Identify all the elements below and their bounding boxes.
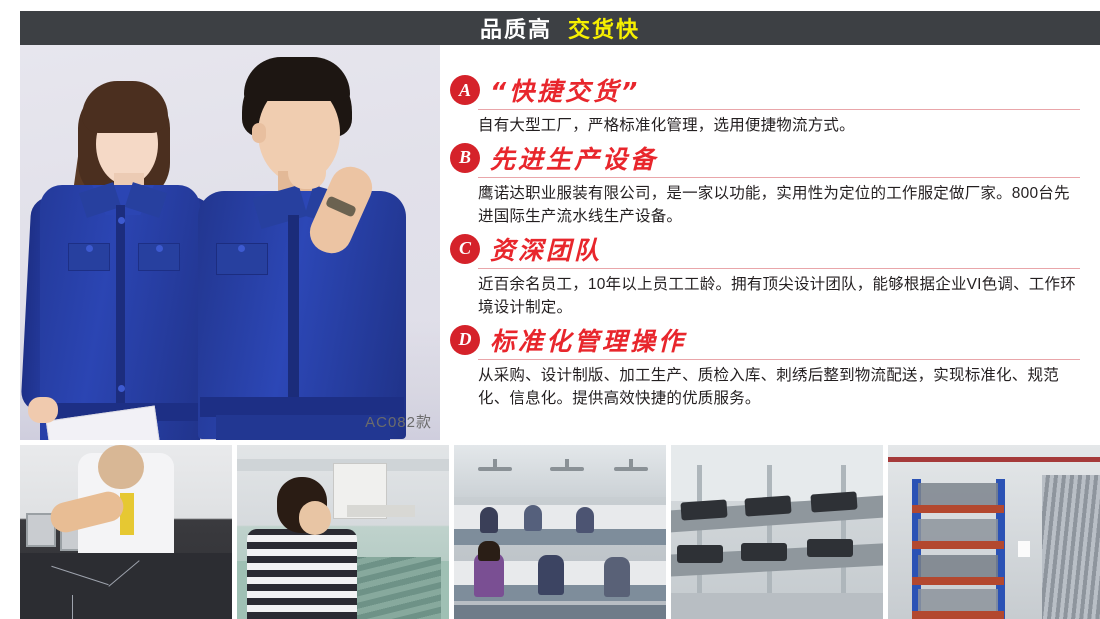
- garment-on-belt: [810, 491, 857, 512]
- feature-b-title: 先进生产设备: [490, 140, 658, 176]
- gallery-photo-conveyor-finishing: [671, 445, 883, 619]
- feature-item-a: A “快捷交货” 自有大型工厂，严格标准化管理，选用便捷物流方式。: [450, 72, 1080, 138]
- female-button: [118, 217, 125, 224]
- male-hand: [288, 149, 326, 189]
- feature-d-divider: [478, 359, 1080, 360]
- female-hair-front: [82, 81, 168, 133]
- inventory-tag: [1018, 541, 1030, 557]
- stored-goods: [918, 589, 998, 611]
- ceiling-fan-icon: [550, 467, 584, 471]
- rack-shelf: [912, 611, 1004, 619]
- pattern-chalk-line: [72, 595, 73, 619]
- female-button: [118, 385, 125, 392]
- garment-on-belt: [744, 495, 791, 516]
- feature-list: A “快捷交货” 自有大型工厂，严格标准化管理，选用便捷物流方式。 B 先进生产…: [450, 72, 1080, 442]
- worker-figure: [604, 557, 630, 597]
- gallery-photo-sewing-workshop: [237, 445, 449, 619]
- female-hand: [28, 397, 58, 423]
- worker-head: [478, 541, 500, 561]
- feature-d-body: 从采购、设计制版、加工生产、质检入库、刺绣后整到物流配送，实现标准化、规范化、信…: [478, 364, 1080, 411]
- feature-b-header: B 先进生产设备: [450, 140, 1080, 176]
- feature-a-badge: A: [450, 75, 480, 105]
- feature-a-body: 自有大型工厂，严格标准化管理，选用便捷物流方式。: [478, 114, 1080, 138]
- rack-shelf: [912, 577, 1004, 585]
- dark-fabric-stack: [20, 553, 232, 619]
- feature-a-divider: [478, 109, 1080, 110]
- worker-figure: [576, 507, 594, 533]
- sewing-worker-striped-shirt: [247, 529, 357, 619]
- feature-b-body: 鹰诺达职业服装有限公司，是一家以功能，实用性为定位的工作服定做厂家。800台先进…: [478, 182, 1080, 229]
- factory-gallery-strip: [20, 445, 1100, 619]
- male-trousers: [216, 415, 390, 440]
- female-jacket-placket: [116, 205, 125, 435]
- stored-goods: [918, 555, 998, 577]
- garment-on-belt: [807, 539, 853, 557]
- cutting-worker-tie: [120, 493, 134, 535]
- header-title-highlight: 交货快: [568, 12, 640, 44]
- feature-b-badge: B: [450, 143, 480, 173]
- hanging-garment-bags: [1042, 475, 1100, 619]
- hero-product-photo: AC082款: [20, 45, 440, 440]
- worktable-row: [454, 605, 666, 619]
- conveyor-base: [671, 593, 883, 619]
- feature-d-title: 标准化管理操作: [490, 322, 686, 358]
- sewing-worker-face: [299, 501, 331, 535]
- gallery-photo-warehouse-racks: [888, 445, 1100, 619]
- stored-goods: [918, 483, 998, 505]
- product-code-label: AC082款: [365, 411, 432, 432]
- male-ear: [252, 123, 266, 143]
- gallery-photo-cutting-workshop: [20, 445, 232, 619]
- male-button: [238, 245, 245, 252]
- feature-a-header: A “快捷交货”: [450, 72, 1080, 108]
- worker-figure: [538, 555, 564, 595]
- feature-d-header: D 标准化管理操作: [450, 322, 1080, 358]
- ceiling-fan-icon: [614, 467, 648, 471]
- feature-item-c: C 资深团队 近百余名员工，10年以上员工工龄。拥有顶尖设计团队，能够根据企业V…: [450, 231, 1080, 320]
- feature-c-divider: [478, 268, 1080, 269]
- feature-b-divider: [478, 177, 1080, 178]
- cutting-worker-head: [98, 445, 144, 489]
- feature-c-badge: C: [450, 234, 480, 264]
- header-banner: 品质高 交货快: [20, 11, 1100, 45]
- folded-fabric-pile: [355, 557, 441, 619]
- page-root: 品质高 交货快: [0, 0, 1100, 619]
- ceiling-pipe: [888, 457, 1100, 462]
- garment-on-belt: [680, 499, 727, 520]
- header-title-primary: 品质高: [480, 12, 552, 44]
- feature-c-title: 资深团队: [490, 231, 602, 267]
- worker-figure: [480, 507, 498, 533]
- feature-item-d: D 标准化管理操作 从采购、设计制版、加工生产、质检入库、刺绣后整到物流配送，实…: [450, 322, 1080, 411]
- gallery-photo-production-floor: [454, 445, 666, 619]
- feature-a-title: “快捷交货”: [490, 72, 640, 108]
- male-hair-front: [244, 57, 350, 101]
- feature-c-header: C 资深团队: [450, 231, 1080, 267]
- garment-on-belt: [741, 543, 787, 561]
- garment-on-belt: [677, 545, 723, 563]
- rack-shelf: [912, 505, 1004, 513]
- worker-figure: [524, 505, 542, 531]
- sewing-machine-arm: [347, 505, 415, 517]
- feature-d-badge: D: [450, 325, 480, 355]
- factory-ceiling: [454, 445, 666, 497]
- stored-goods: [918, 519, 998, 541]
- female-button: [156, 245, 163, 252]
- ceiling-fan-icon: [478, 467, 512, 471]
- rack-shelf: [912, 541, 1004, 549]
- female-button: [86, 245, 93, 252]
- feature-c-body: 近百余名员工，10年以上员工工龄。拥有顶尖设计团队，能够根据企业VI色调、工作环…: [478, 273, 1080, 320]
- feature-item-b: B 先进生产设备 鹰诺达职业服装有限公司，是一家以功能，实用性为定位的工作服定做…: [450, 140, 1080, 229]
